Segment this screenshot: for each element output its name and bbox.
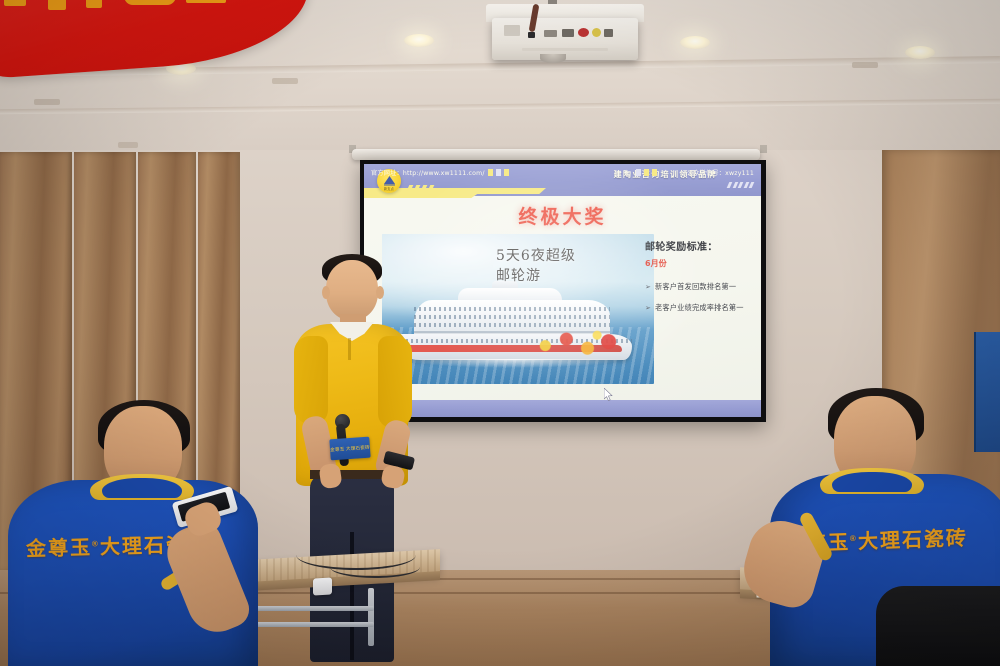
- ship-hull-artwork: [528, 330, 624, 356]
- downlight: [905, 46, 935, 59]
- banner-tab: [186, 0, 226, 3]
- presentation-slide: 新支点 建陶业咨询培训领导品牌 终极大奖: [364, 164, 761, 417]
- microphone-flag-label: 金尊玉 大理石瓷砖: [330, 444, 370, 453]
- shirt-brand-text: 金尊玉: [26, 537, 93, 561]
- presenter-sleeve-left: [294, 336, 328, 424]
- audience-left-collar-inner: [102, 478, 182, 498]
- presenter-placket: [348, 338, 351, 360]
- slide-header-dashes-right: [727, 182, 755, 188]
- downlight: [680, 36, 710, 49]
- slide-footer-blocks-left: [488, 169, 509, 176]
- ship-window-row: [414, 315, 610, 319]
- presentation-room-photo: 新支点 建陶业咨询培训领导品牌 终极大奖: [0, 0, 1000, 666]
- ceiling-vent: [118, 142, 138, 148]
- audience-right-collar-inner: [832, 472, 912, 492]
- cruise-ship-image: 5天6夜超级 邮轮游: [382, 234, 654, 384]
- reward-criteria-title: 邮轮奖励标准：: [645, 238, 751, 253]
- list-item-label: 新客户首发回款排名第一: [655, 282, 736, 291]
- projector-port: [562, 29, 574, 37]
- reward-criteria-month: 6月份: [645, 258, 751, 269]
- slide-footer-bar: [364, 400, 761, 417]
- audience-member-right: 金尊玉®大理石瓷砖: [756, 396, 1000, 666]
- handwriting-line-2: 邮轮游: [496, 266, 646, 286]
- slide-right-panel: 邮轮奖励标准： 6月份 ➢ 新客户首发回款排名第一 ➢ 老客户业绩完成率排名第一: [645, 238, 751, 322]
- projector-port: [578, 28, 589, 37]
- slide-handwriting-text: 5天6夜超级 邮轮游: [496, 246, 646, 287]
- ship-window-row: [414, 307, 610, 311]
- ceiling-vent: [852, 62, 878, 68]
- banner-tab: [4, 0, 26, 6]
- projector-lens: [540, 54, 566, 63]
- registered-mark-icon: ®: [92, 539, 100, 548]
- screen-roller: [352, 149, 760, 160]
- desk-crossbar: [250, 606, 374, 611]
- mouse-pointer-icon: [604, 387, 613, 401]
- slide-footer-blocks-right: [636, 169, 657, 176]
- banner-tab: [124, 0, 176, 5]
- list-item: ➢ 新客户首发回款排名第一: [645, 281, 751, 293]
- projector-port: [604, 29, 613, 37]
- handwriting-line-1: 5天6夜超级: [496, 246, 646, 266]
- ship-hull: [396, 334, 632, 360]
- projector-port: [504, 25, 520, 36]
- screen-surface: 新支点 建陶业咨询培训领导品牌 终极大奖: [364, 164, 761, 417]
- slide-header-dashes-left: [407, 185, 435, 191]
- shirt-brand-suffix: 大理石瓷砖: [858, 528, 969, 554]
- slide-footer-wechat: 公众微信号：xwzy111: [687, 168, 754, 177]
- banner-tab: [48, 0, 66, 10]
- audience-member-left: 金尊玉®大理石瓷砖: [8, 406, 258, 666]
- microphone-flag: 金尊玉 大理石瓷砖: [329, 437, 370, 461]
- presenter-ear: [376, 286, 384, 299]
- list-item: ➢ 老客户业绩完成率排名第一: [645, 302, 751, 314]
- projector-port: [522, 48, 608, 51]
- projector-port: [544, 30, 557, 37]
- projector-port: [592, 28, 601, 37]
- ceiling-vent: [272, 78, 298, 84]
- projection-screen: 新支点 建陶业咨询培训领导品牌 终极大奖: [360, 160, 766, 422]
- projector-port: [528, 32, 535, 38]
- cruise-ship: [396, 282, 632, 366]
- list-item-label: 老客户业绩完成率排名第一: [655, 303, 744, 312]
- floor-cable: [330, 556, 420, 578]
- company-logo-text: 新支点: [377, 186, 401, 191]
- banner-tab: [86, 0, 102, 8]
- chair-right: [876, 586, 1000, 666]
- desk-left-legs: [250, 588, 430, 648]
- screen-roller-cap: [760, 145, 767, 153]
- arrow-bullet-icon: ➢: [645, 282, 651, 293]
- ship-wake: [402, 359, 624, 368]
- arrow-bullet-icon: ➢: [645, 303, 651, 314]
- reward-criteria-list: ➢ 新客户首发回款排名第一 ➢ 老客户业绩完成率排名第一: [645, 281, 751, 313]
- slide-footer-url: 官方网址：http://www.xw1111.com/: [371, 168, 485, 177]
- slide-main-title: 终极大奖: [364, 202, 761, 229]
- desk-leg: [368, 588, 374, 646]
- presenter-sleeve-right: [378, 336, 412, 428]
- downlight: [404, 34, 434, 47]
- presenter-head: [326, 260, 378, 320]
- presenter-ear: [322, 286, 330, 299]
- ceiling-vent: [34, 99, 60, 105]
- ship-window-row: [414, 323, 610, 327]
- desk-crossbar: [250, 622, 374, 627]
